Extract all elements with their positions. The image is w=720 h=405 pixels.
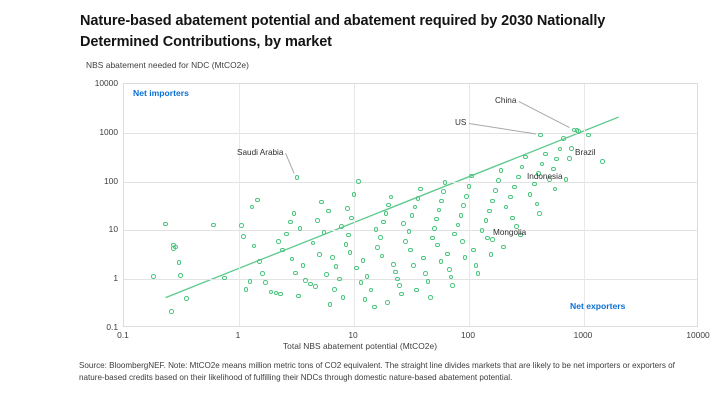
scatter-point [416,196,421,201]
x-tick-label: 10000 [686,330,709,340]
scatter-point [363,297,368,302]
scatter-point [386,203,391,208]
gridline-horizontal [124,133,697,134]
scatter-point [414,288,419,293]
scatter-point [569,146,574,151]
scatter-point [413,205,418,210]
scatter-point [463,255,468,260]
scatter-point [487,209,492,214]
scatter-point [334,264,339,269]
page-title: Nature-based abatement potential and aba… [80,11,680,52]
y-tick-label: 10000 [78,78,118,88]
scatter-point [298,226,303,231]
scatter-point [356,179,361,184]
scatter-point [508,195,513,200]
scatter-point [493,188,498,193]
trendline-layer [124,84,698,327]
gridline-horizontal [124,279,697,280]
scatter-point [369,288,374,293]
scatter-point [445,252,450,257]
scatter-point [421,256,426,261]
y-tick-label: 0.1 [78,322,118,332]
scatter-point [313,284,318,289]
scatter-point [443,180,448,185]
scatter-point [332,287,337,292]
annotation-label: Brazil [575,148,595,157]
scatter-point [439,199,444,204]
scatter-point [426,279,431,284]
annotation-label: Saudi Arabia [237,148,283,157]
scatter-plot-area [123,83,698,327]
scatter-point [184,296,189,301]
scatter-point [211,223,216,228]
scatter-point [504,205,509,210]
quadrant-label: Net importers [133,88,189,98]
scatter-point [330,255,335,260]
scatter-point [292,211,297,216]
scatter-point [263,280,268,285]
chart-page: Nature-based abatement potential and aba… [0,0,720,405]
scatter-point [540,162,545,167]
annotation-label: Indonesia [527,172,563,181]
scatter-point [397,283,402,288]
scatter-point [567,156,572,161]
scatter-point [169,309,174,314]
gridline-vertical [584,84,585,326]
scatter-point [284,232,289,237]
annotation-label: Mongolia [493,228,526,237]
scatter-point [401,221,406,226]
scatter-point [324,272,329,277]
scatter-point [480,228,485,233]
x-tick-label: 10 [348,330,357,340]
scatter-point [255,198,260,203]
scatter-point [418,187,423,192]
scatter-point [501,245,506,250]
y-axis-title: NBS abatement needed for NDC (MtCO2e) [86,60,249,70]
scatter-point [460,239,465,244]
scatter-point [328,302,333,307]
scatter-point [558,147,563,152]
scatter-point [450,283,455,288]
scatter-point [178,273,183,278]
scatter-point [499,168,504,173]
scatter-point [359,280,364,285]
scatter-point [252,244,257,249]
scatter-point [151,274,156,279]
scatter-point [538,133,543,138]
scatter-point [441,189,446,194]
scatter-point [469,174,474,179]
x-axis-title: Total NBS abatement potential (MtCO2e) [0,341,720,351]
scatter-point [520,165,525,170]
scatter-point [496,178,501,183]
scatter-point [476,271,481,276]
scatter-point [399,292,404,297]
scatter-point [395,277,400,282]
gridline-vertical [239,84,240,326]
scatter-point [456,223,461,228]
scatter-point [239,223,244,228]
scatter-point [348,250,353,255]
scatter-point [248,279,253,284]
scatter-point [296,294,301,299]
scatter-point [337,277,342,282]
scatter-point [461,203,466,208]
scatter-point [471,248,476,253]
scatter-point [257,259,262,264]
scatter-point [408,248,413,253]
scatter-point [411,263,416,268]
gridline-vertical [354,84,355,326]
scatter-point [535,202,540,207]
scatter-point [600,159,605,164]
scatter-point [173,245,178,250]
x-tick-label: 1000 [574,330,593,340]
scatter-point [528,192,533,197]
trendline [166,117,619,298]
scatter-point [280,248,285,253]
scatter-point [163,222,168,227]
y-tick-label: 10 [78,224,118,234]
scatter-point [428,295,433,300]
scatter-point [467,184,472,189]
scatter-point [361,258,366,263]
scatter-point [435,243,440,248]
source-footnote: Source: BloombergNEF. Note: MtCO2e means… [79,360,679,384]
scatter-point [554,157,559,162]
scatter-point [354,266,359,271]
scatter-point [349,216,354,221]
scatter-point [459,213,464,218]
annotation-label: China [495,96,516,105]
y-tick-label: 100 [78,176,118,186]
scatter-point [260,271,265,276]
scatter-point [523,155,528,160]
scatter-point [543,152,548,157]
scatter-point [345,206,350,211]
scatter-point [378,235,383,240]
scatter-point [437,208,442,213]
scatter-point [512,185,517,190]
scatter-point [516,175,521,180]
scatter-point [317,252,322,257]
scatter-point [403,239,408,244]
scatter-point [407,229,412,234]
scatter-point [375,245,380,250]
scatter-point [485,236,490,241]
x-tick-label: 100 [461,330,475,340]
quadrant-label: Net exporters [570,301,625,311]
scatter-point [301,263,306,268]
scatter-point [295,175,300,180]
scatter-point [410,213,415,218]
scatter-point [322,230,327,235]
scatter-point [490,199,495,204]
x-tick-label: 0.1 [117,330,129,340]
y-tick-label: 1 [78,273,118,283]
scatter-point [339,224,344,229]
gridline-vertical [469,84,470,326]
scatter-point [365,274,370,279]
scatter-point [250,205,255,210]
scatter-point [489,252,494,257]
scatter-point [439,259,444,264]
annotation-label: US [455,118,466,127]
scatter-point [352,192,357,197]
scatter-point [380,254,385,259]
scatter-point [326,209,331,214]
scatter-point [276,239,281,244]
scatter-point [319,200,324,205]
scatter-point [484,218,489,223]
gridline-horizontal [124,182,697,183]
scatter-point [269,290,274,295]
scatter-point [551,167,556,172]
scatter-point [474,263,479,268]
scatter-point [177,260,182,265]
scatter-point [311,241,316,246]
scatter-point [434,217,439,222]
scatter-point [423,271,428,276]
scatter-point [288,220,293,225]
scatter-point [537,211,542,216]
scatter-point [315,218,320,223]
scatter-point [293,271,298,276]
scatter-point [278,292,283,297]
scatter-point [341,295,346,300]
scatter-point [344,242,349,247]
scatter-point [432,226,437,231]
scatter-point [391,262,396,267]
scatter-point [381,220,386,225]
scatter-point [553,187,558,192]
scatter-point [430,236,435,241]
scatter-point [586,133,591,138]
scatter-point [385,300,390,305]
y-tick-label: 1000 [78,127,118,137]
scatter-point [156,326,161,327]
scatter-point [384,211,389,216]
y-axis-ticks: 0.1110100100010000 [78,83,118,327]
scatter-point [303,278,308,283]
scatter-point [290,257,295,262]
scatter-point [532,182,537,187]
scatter-point [244,287,249,292]
scatter-point [393,270,398,275]
scatter-point [241,234,246,239]
scatter-point [346,233,351,238]
scatter-point [447,267,452,272]
scatter-point [452,232,457,237]
scatter-point [464,194,469,199]
scatter-point [490,237,495,242]
scatter-point [389,195,394,200]
x-tick-label: 1 [236,330,241,340]
scatter-point [510,216,515,221]
scatter-point [372,305,377,310]
scatter-point [374,227,379,232]
scatter-point [561,136,566,141]
